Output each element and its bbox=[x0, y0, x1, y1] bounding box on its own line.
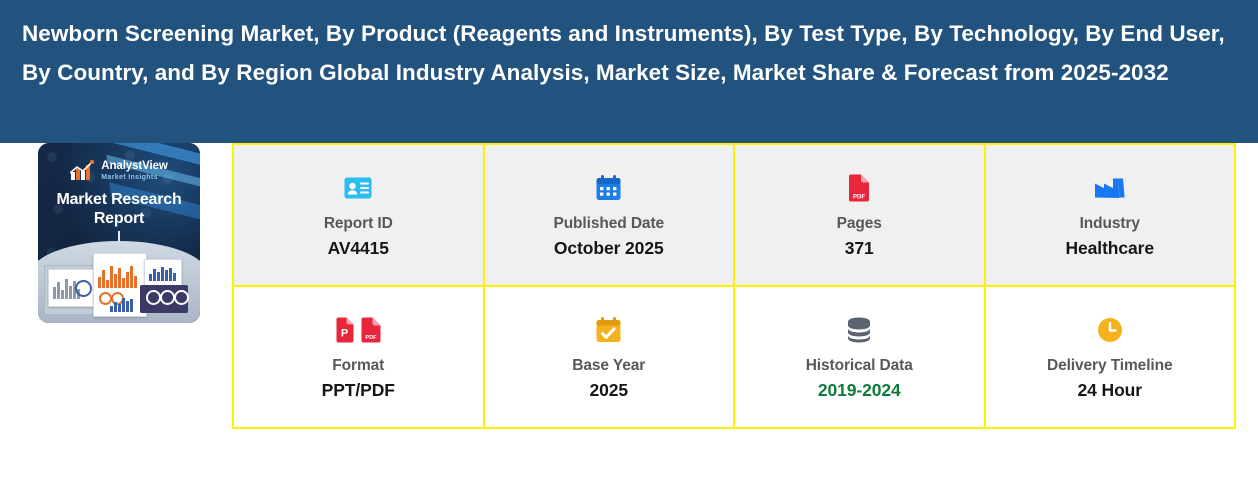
logo-subtitle: Market Insights bbox=[101, 174, 167, 181]
meta-value: October 2025 bbox=[554, 236, 664, 260]
database-icon bbox=[846, 313, 872, 347]
svg-text:PDF: PDF bbox=[365, 335, 377, 341]
meta-label: Industry bbox=[1080, 214, 1140, 234]
meta-cell-report-id[interactable]: Report ID AV4415 bbox=[233, 144, 484, 286]
meta-label: Pages bbox=[837, 214, 882, 234]
meta-label: Delivery Timeline bbox=[1047, 356, 1173, 376]
meta-cell-industry[interactable]: Industry Healthcare bbox=[985, 144, 1236, 286]
page-title: Newborn Screening Market, By Product (Re… bbox=[22, 14, 1236, 92]
report-cover-thumbnail[interactable]: AnalystView Market Insights Market Resea… bbox=[38, 143, 200, 323]
meta-value: 24 Hour bbox=[1078, 378, 1142, 402]
meta-label: Format bbox=[332, 356, 384, 376]
id-card-icon bbox=[344, 171, 372, 205]
logo-name: AnalystView bbox=[101, 161, 167, 173]
cover-background: AnalystView Market Insights Market Resea… bbox=[38, 143, 200, 323]
clock-icon bbox=[1097, 313, 1123, 347]
chart-document-left bbox=[48, 269, 98, 307]
svg-text:PDF: PDF bbox=[853, 194, 865, 200]
meta-label: Historical Data bbox=[806, 356, 913, 376]
meta-cell-format[interactable]: P PDF Format PPT/PDF bbox=[233, 286, 484, 428]
meta-value: 2025 bbox=[589, 378, 628, 402]
meta-cell-historical-data[interactable]: Historical Data 2019-2024 bbox=[734, 286, 985, 428]
svg-text:P: P bbox=[341, 327, 348, 339]
meta-value: AV4415 bbox=[328, 236, 389, 260]
meta-value: PPT/PDF bbox=[322, 378, 395, 402]
meta-label: Base Year bbox=[572, 356, 645, 376]
table-row: P PDF Format PPT/PDF bbox=[233, 286, 1235, 428]
meta-label: Report ID bbox=[324, 214, 393, 234]
ppt-pdf-files-icon: P PDF bbox=[336, 313, 381, 347]
meta-value: 2019-2024 bbox=[818, 378, 901, 402]
page-header: Newborn Screening Market, By Product (Re… bbox=[0, 0, 1258, 143]
logo-wordmark: AnalystView Market Insights bbox=[101, 161, 167, 181]
meta-value: Healthcare bbox=[1066, 236, 1155, 260]
meta-cell-published-date[interactable]: Published Date October 2025 bbox=[484, 144, 735, 286]
meta-cell-base-year[interactable]: Base Year 2025 bbox=[484, 286, 735, 428]
meta-cell-delivery-timeline[interactable]: Delivery Timeline 24 Hour bbox=[985, 286, 1236, 428]
cover-illustration bbox=[38, 245, 200, 323]
analystview-logo: AnalystView Market Insights bbox=[38, 160, 200, 181]
meta-cell-pages[interactable]: PDF Pages 371 bbox=[734, 144, 985, 286]
factory-icon bbox=[1095, 171, 1125, 205]
calendar-icon bbox=[596, 171, 621, 205]
pdf-file-icon: PDF bbox=[361, 317, 381, 343]
logo-bar-chart-icon bbox=[70, 160, 96, 181]
cover-heading: Market Research Report bbox=[48, 190, 190, 228]
pdf-file-icon: PDF bbox=[848, 171, 870, 205]
report-summary-section: AnalystView Market Insights Market Resea… bbox=[0, 143, 1258, 483]
meta-value: 371 bbox=[845, 236, 874, 260]
chart-document-center bbox=[93, 253, 147, 317]
dashboard-panel bbox=[140, 285, 188, 313]
chart-document-right bbox=[144, 259, 182, 287]
report-meta-table: Report ID AV4415 bbox=[232, 143, 1236, 429]
table-row: Report ID AV4415 bbox=[233, 144, 1235, 286]
calendar-check-icon bbox=[596, 313, 621, 347]
ppt-file-icon: P bbox=[336, 317, 354, 343]
meta-label: Published Date bbox=[553, 214, 664, 234]
